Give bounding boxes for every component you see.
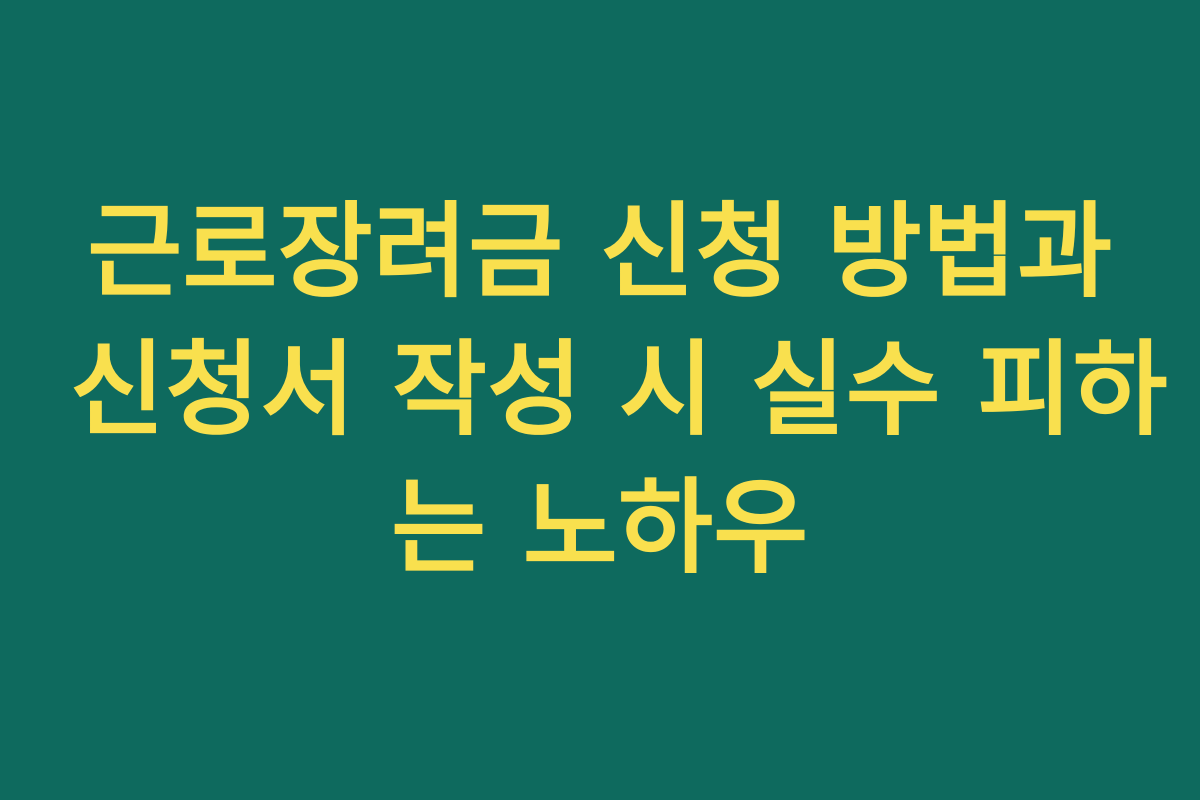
headline-line-1: 근로장려금 신청 방법과 [70, 183, 1130, 321]
thumbnail-canvas: 근로장려금 신청 방법과 신청서 작성 시 실수 피하 는 노하우 [0, 0, 1200, 800]
headline-block: 근로장려금 신청 방법과 신청서 작성 시 실수 피하 는 노하우 [70, 183, 1130, 597]
headline-line-2: 신청서 작성 시 실수 피하 [70, 321, 1130, 459]
headline-line-3: 는 노하우 [70, 459, 1130, 597]
